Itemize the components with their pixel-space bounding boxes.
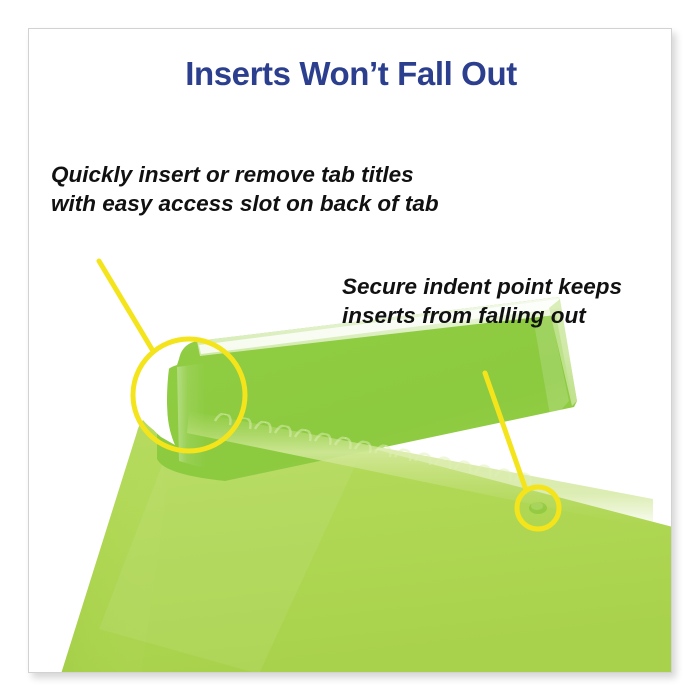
indent-point-caption: Secure indent point keeps inserts from f… — [342, 272, 622, 330]
secure-indent-point — [529, 502, 547, 514]
page-title: Inserts Won’t Fall Out — [29, 55, 672, 93]
green-index-divider — [29, 29, 672, 673]
photo-frame: Inserts Won’t Fall Out Quickly insert or… — [28, 28, 672, 673]
access-slot-caption: Quickly insert or remove tab titles with… — [51, 160, 439, 218]
product-feature-image: Inserts Won’t Fall Out Quickly insert or… — [0, 0, 700, 700]
